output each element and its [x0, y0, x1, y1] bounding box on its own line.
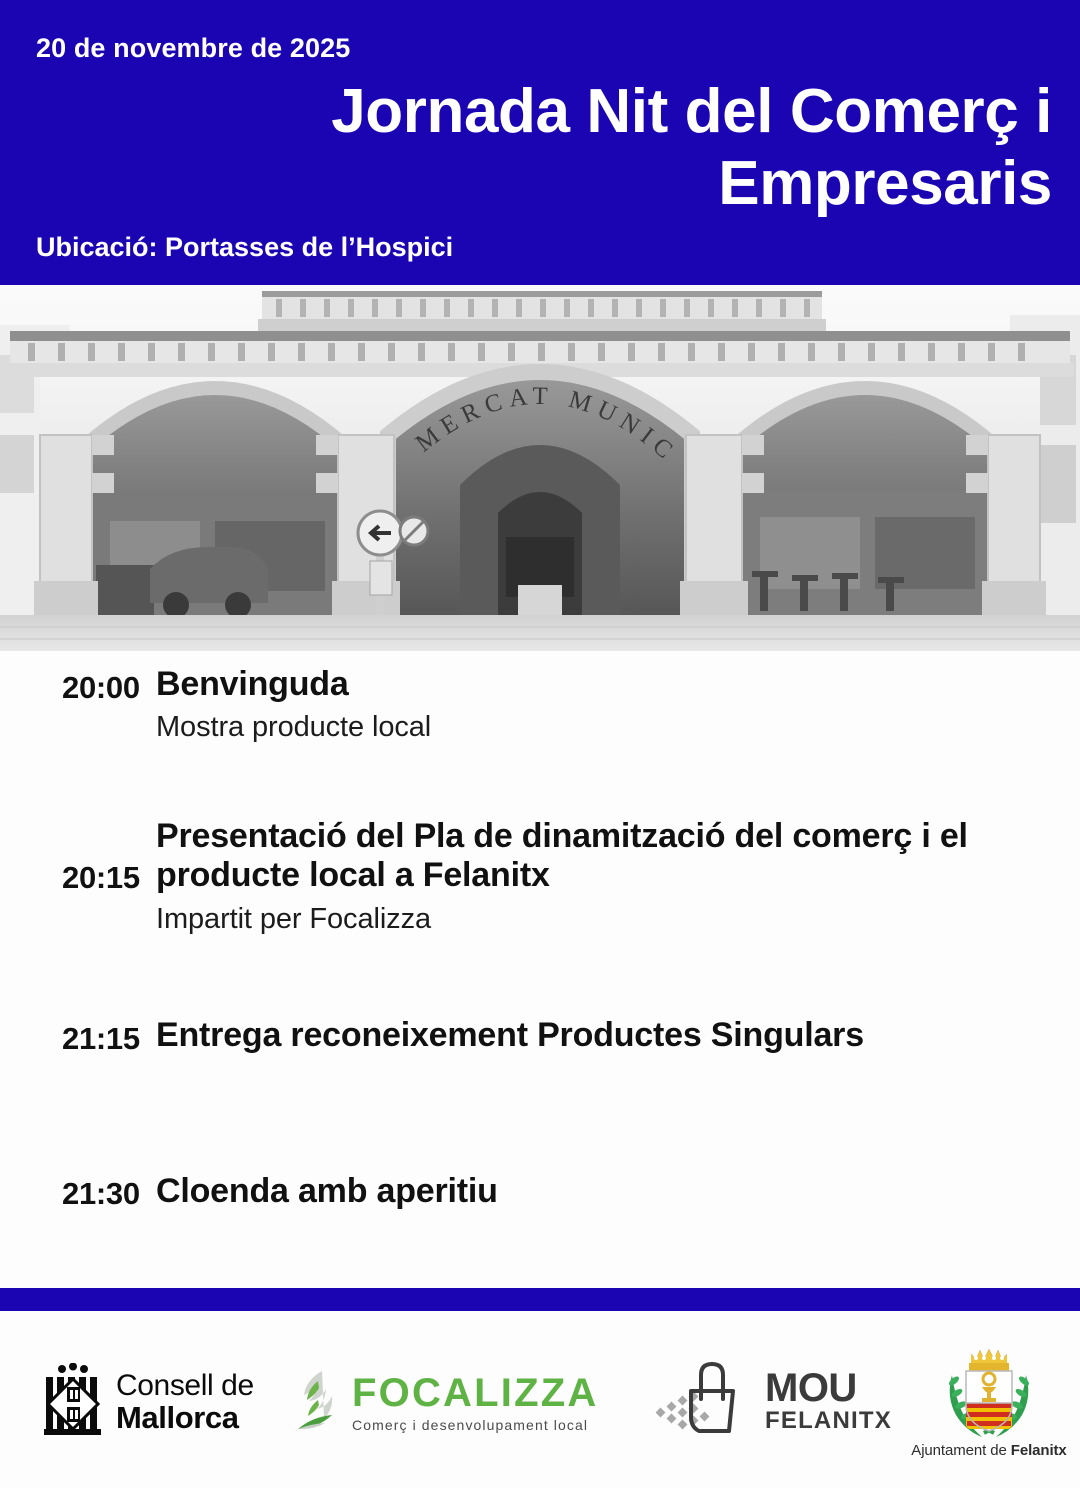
schedule-item: 20:15 Presentació del Pla de dinamitzaci…	[0, 817, 1080, 937]
schedule-item-body: Presentació del Pla de dinamització del …	[156, 817, 1080, 937]
consell-line-2: Mallorca	[116, 1402, 254, 1434]
felanitx-coat-of-arms-block: Ajuntament de Felanitx	[898, 1341, 1080, 1460]
schedule-item-title: Benvinguda	[156, 665, 1020, 704]
focalizza-leaf-icon	[292, 1367, 346, 1438]
mou-line-2: FELANITX	[765, 1409, 892, 1433]
schedule-list: 20:00 Benvinguda Mostra producte local 2…	[0, 651, 1080, 1288]
blue-divider-bar	[0, 1288, 1080, 1311]
focalizza-wordmark-block: FOCALIZZA Comerç i desenvolupament local	[352, 1373, 598, 1432]
logo-focalizza: FOCALIZZA Comerç i desenvolupament local	[292, 1367, 598, 1438]
consell-de-mallorca-crest-icon	[42, 1363, 104, 1442]
schedule-item: 21:15 Entrega reconeixement Productes Si…	[0, 1016, 1080, 1057]
consell-de-mallorca-wordmark: Consell de Mallorca	[116, 1371, 254, 1433]
mou-line-1: MOU	[765, 1369, 892, 1407]
ajuntament-de-felanitx-caption: Ajuntament de Felanitx	[911, 1442, 1066, 1459]
poster-root: 20 de novembre de 2025 Jornada Nit del C…	[0, 0, 1080, 1488]
shopping-bag-icon	[655, 1361, 755, 1440]
page-title-line-2: Empresaris	[192, 148, 1052, 220]
event-date: 20 de novembre de 2025	[36, 33, 350, 64]
leaf-icon	[292, 1367, 346, 1433]
logo-mou-felanitx: MOU FELANITX	[655, 1361, 892, 1440]
schedule-item-title: Entrega reconeixement Productes Singular…	[156, 1016, 1020, 1055]
coat-of-arms-icon	[914, 1341, 1064, 1437]
focalizza-tagline: Comerç i desenvolupament local	[352, 1418, 598, 1432]
schedule-item-time: 20:00	[0, 665, 156, 706]
schedule-item-subtitle: Mostra producte local	[156, 710, 1020, 745]
focalizza-wordmark: FOCALIZZA	[352, 1373, 598, 1413]
crest-icon	[42, 1363, 104, 1437]
schedule-item-body: Entrega reconeixement Productes Singular…	[156, 1016, 1080, 1055]
schedule-item-title: Presentació del Pla de dinamització del …	[156, 817, 1020, 896]
logo-consell-de-mallorca: Consell de Mallorca	[42, 1363, 254, 1442]
page-title: Jornada Nit del Comerç i Empresaris	[192, 76, 1052, 220]
schedule-item: 21:30 Cloenda amb aperitiu	[0, 1172, 1080, 1212]
market-building-illustration: MERCAT MUNICIPAL	[0, 285, 1080, 651]
schedule-item-body: Benvinguda Mostra producte local	[156, 665, 1080, 745]
felanitx-caption-prefix: Ajuntament de	[911, 1442, 1011, 1459]
market-building-photo: MERCAT MUNICIPAL	[0, 285, 1080, 651]
page-title-line-1: Jornada Nit del Comerç i	[192, 76, 1052, 148]
schedule-item-time: 21:30	[0, 1172, 156, 1212]
schedule-item-time: 20:15	[0, 817, 156, 896]
schedule-item: 20:00 Benvinguda Mostra producte local	[0, 665, 1080, 745]
schedule-item-title: Cloenda amb aperitiu	[156, 1172, 1020, 1211]
event-location: Ubicació: Portasses de l’Hospici	[36, 232, 453, 263]
schedule-item-subtitle: Impartit per Focalizza	[156, 902, 1020, 937]
schedule-item-time: 21:15	[0, 1016, 156, 1057]
schedule-item-body: Cloenda amb aperitiu	[156, 1172, 1080, 1211]
footer-logo-strip: Consell de Mallorca FOCALIZZA Comerç i d…	[0, 1311, 1080, 1488]
mou-felanitx-wordmark: MOU FELANITX	[765, 1369, 892, 1433]
logo-ajuntament-de-felanitx: Ajuntament de Felanitx	[898, 1341, 1080, 1460]
consell-line-1: Consell de	[116, 1371, 254, 1402]
poster-header: 20 de novembre de 2025 Jornada Nit del C…	[0, 0, 1080, 285]
shopping-bag-icon	[655, 1361, 755, 1435]
felanitx-caption-bold: Felanitx	[1011, 1442, 1067, 1459]
